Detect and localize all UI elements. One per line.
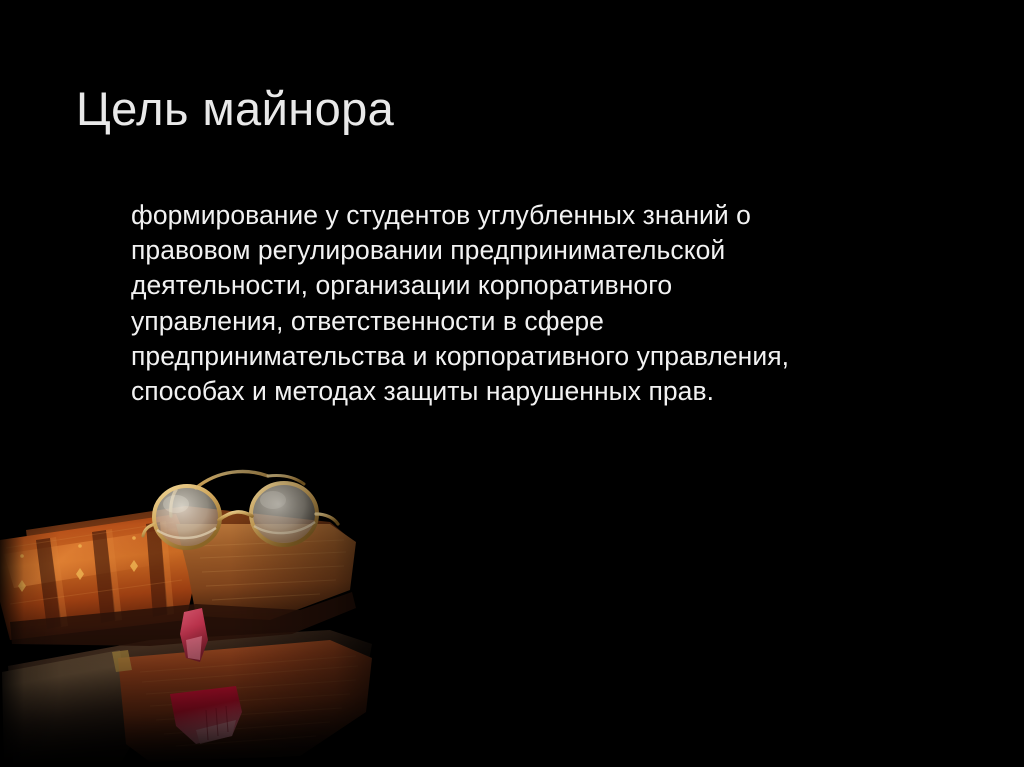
body-line: способах и методах защиты нарушенных пра…	[131, 374, 961, 409]
books-and-glasses-photo	[0, 444, 420, 767]
body-line: управления, ответственности в сфере	[131, 304, 961, 339]
presentation-slide: Цель майнора формирование у студентов уг…	[0, 0, 1024, 767]
body-line: правовом регулировании предпринимательск…	[131, 233, 961, 268]
page-title: Цель майнора	[76, 80, 936, 138]
body-line: деятельности, организации корпоративного	[131, 268, 961, 303]
slide-body-text: формирование у студентов углубленных зна…	[131, 198, 961, 409]
body-line: предпринимательства и корпоративного упр…	[131, 339, 961, 374]
body-line: формирование у студентов углубленных зна…	[131, 198, 961, 233]
